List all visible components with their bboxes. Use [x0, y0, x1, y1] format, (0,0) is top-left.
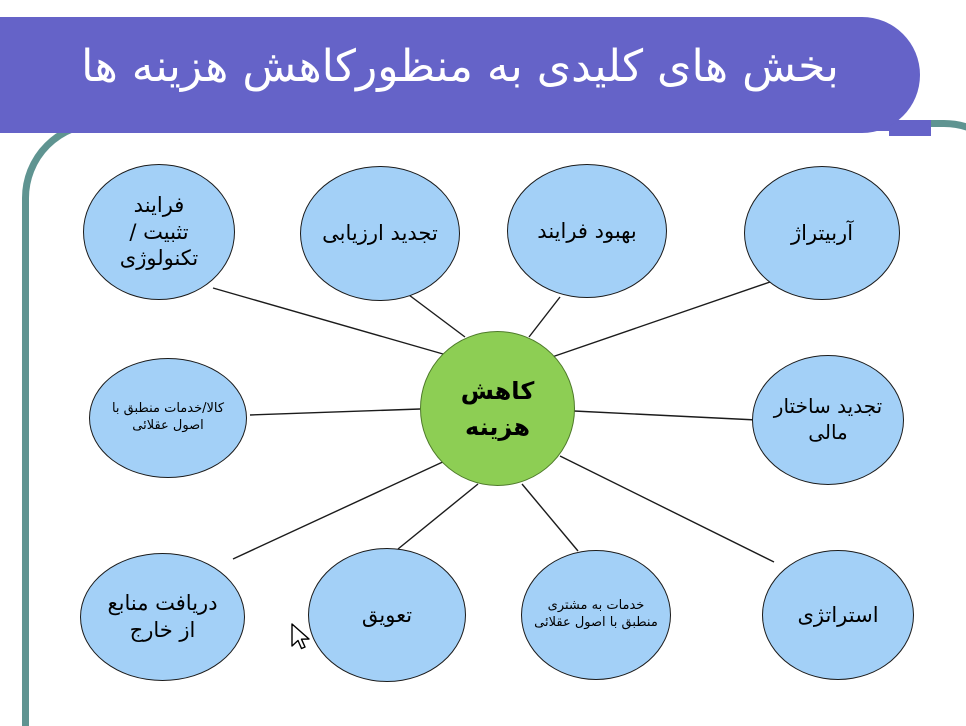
connector-to-rational-goods-services — [250, 409, 420, 415]
node-label: تجدید ارزیابی — [314, 220, 446, 247]
connector-to-revaluation — [409, 295, 465, 337]
node-label: فرایند تثبیت / تکنولوژی — [112, 192, 206, 273]
node-arbitrage[interactable]: آربیتراژ — [744, 166, 900, 300]
node-revaluation[interactable]: تجدید ارزیابی — [300, 166, 460, 301]
connector-to-external-resources — [233, 460, 447, 559]
node-center-cost-reduction[interactable]: کاهش هزینه — [420, 331, 575, 486]
node-label: دریافت منابع از خارج — [99, 590, 225, 644]
node-strategy[interactable]: استراتژی — [762, 550, 914, 680]
connector-to-deferral — [398, 484, 478, 549]
node-rational-customer-services[interactable]: خدمات به مشتری منطبق با اصول عقلائی — [521, 550, 671, 680]
connector-to-strategy — [560, 456, 774, 562]
node-label: بهبود فرایند — [529, 218, 644, 245]
connector-to-financial-restructuring — [574, 411, 757, 420]
node-label: کاهش هزینه — [453, 373, 543, 445]
node-label: تجدید ساختار مالی — [753, 394, 903, 445]
node-rational-goods-services[interactable]: کالا/خدمات منطبق با اصول عقلائی — [89, 358, 247, 478]
connector-to-process-stabilization-technology — [213, 288, 443, 354]
slide-canvas: بخش های کلیدی به منظورکاهش هزینه ها فرای… — [0, 0, 966, 726]
page-title: بخش های کلیدی به منظورکاهش هزینه ها — [0, 17, 920, 117]
node-label: استراتژی — [789, 602, 886, 629]
node-label: آربیتراژ — [783, 220, 861, 247]
node-external-resources[interactable]: دریافت منابع از خارج — [80, 553, 245, 681]
node-label: تعویق — [354, 602, 420, 629]
node-process-stabilization-technology[interactable]: فرایند تثبیت / تکنولوژی — [83, 164, 235, 300]
node-process-improvement[interactable]: بهبود فرایند — [507, 164, 667, 298]
node-financial-restructuring[interactable]: تجدید ساختار مالی — [752, 355, 904, 485]
node-label: کالا/خدمات منطبق با اصول عقلائی — [104, 401, 232, 434]
node-label: خدمات به مشتری منطبق با اصول عقلائی — [526, 598, 666, 631]
node-deferral[interactable]: تعویق — [308, 548, 466, 682]
connector-to-process-improvement — [529, 297, 560, 337]
connector-to-rational-customer-services — [522, 484, 578, 551]
